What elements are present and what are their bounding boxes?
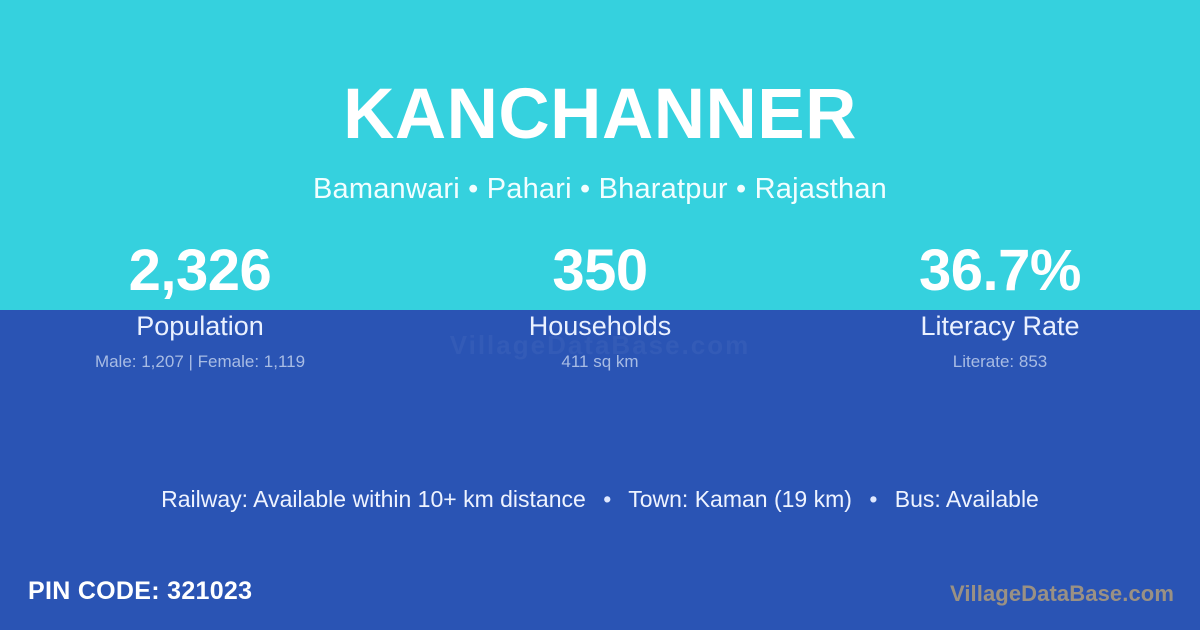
breadcrumb: Bamanwari • Pahari • Bharatpur • Rajasth… [0,175,1200,204]
amenity-bus: Bus: Available [895,486,1039,512]
stat-card-population: 2,326 Population Male: 1,207 | Female: 1… [0,240,400,372]
stat-label: Population [0,311,400,341]
page-title: KANCHANNER [0,79,1200,150]
amenity-railway: Railway: Available within 10+ km distanc… [161,486,586,512]
stat-card-households: 350 Households 411 sq km [400,240,800,372]
amenities-strip: Railway: Available within 10+ km distanc… [0,484,1200,514]
stat-label: Households [400,311,800,341]
stat-sublabel: Literate: 853 [800,352,1200,372]
amenity-town: Town: Kaman (19 km) [628,486,852,512]
stat-card-literacy-rate: 36.7% Literacy Rate Literate: 853 [800,240,1200,372]
amenity-separator: • [858,484,888,514]
stat-sublabel: 411 sq km [400,352,800,372]
village-info-card: KANCHANNER Bamanwari • Pahari • Bharatpu… [0,0,1200,630]
stat-label: Literacy Rate [800,311,1200,341]
stat-sublabel: Male: 1,207 | Female: 1,119 [0,352,400,372]
amenity-separator: • [592,484,622,514]
stat-value: 2,326 [0,240,400,302]
stats-row: 2,326 Population Male: 1,207 | Female: 1… [0,240,1200,372]
stat-value: 36.7% [800,240,1200,302]
stat-value: 350 [400,240,800,302]
brand-logo-text: VillageDataBase.com [950,580,1174,608]
pin-code-label: PIN CODE: 321023 [28,576,252,606]
hero-section: KANCHANNER Bamanwari • Pahari • Bharatpu… [0,0,1200,204]
